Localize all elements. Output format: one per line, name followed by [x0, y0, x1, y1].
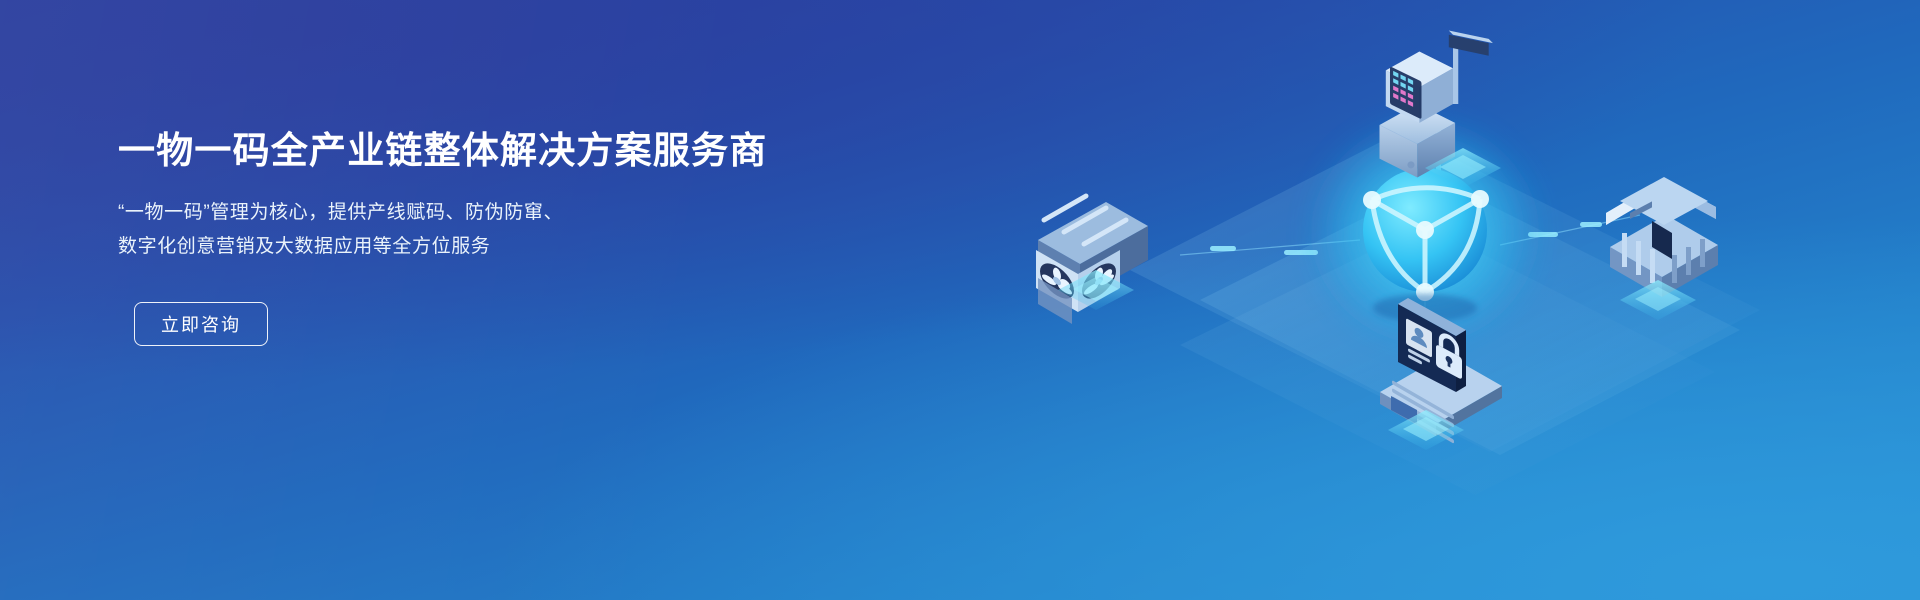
subtitle-line-1: “一物一码”管理为核心，提供产线赋码、防伪防窜、 [118, 196, 838, 230]
hero-banner: 一物一码全产业链整体解决方案服务商 “一物一码”管理为核心，提供产线赋码、防伪防… [0, 0, 1920, 600]
consult-now-button[interactable]: 立即咨询 [134, 302, 268, 346]
hero-copy: 一物一码全产业链整体解决方案服务商 “一物一码”管理为核心，提供产线赋码、防伪防… [118, 128, 838, 346]
page-title: 一物一码全产业链整体解决方案服务商 [118, 128, 838, 174]
hero-illustration [880, 0, 1920, 600]
hero-subtitle: “一物一码”管理为核心，提供产线赋码、防伪防窜、 数字化创意营销及大数据应用等全… [118, 196, 838, 264]
subtitle-line-2: 数字化创意营销及大数据应用等全方位服务 [118, 230, 838, 264]
